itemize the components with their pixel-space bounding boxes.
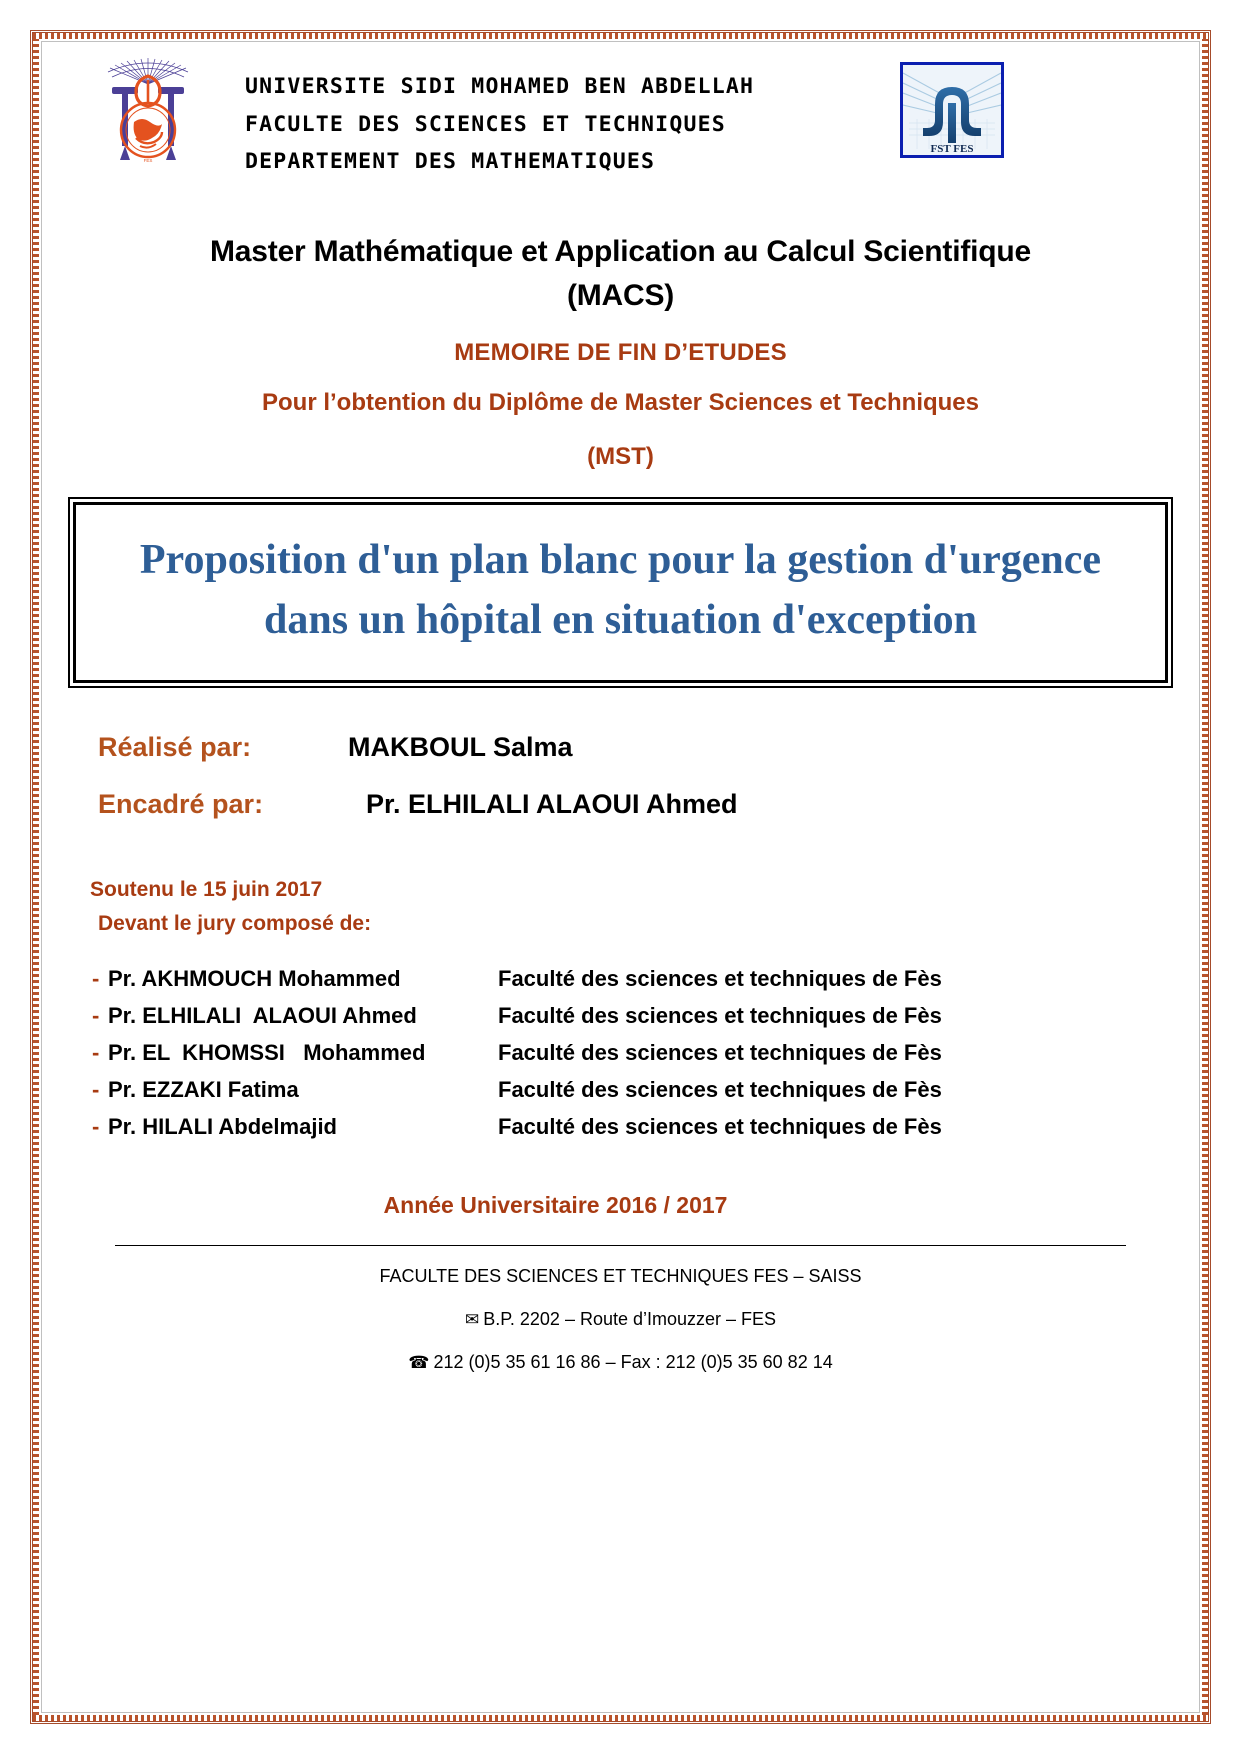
supervisor-label: Encadré par: [98,789,348,820]
thesis-title-box: Proposition d'un plan blanc pour la gest… [68,497,1173,688]
defense-block: Soutenu le 15 juin 2017 Devant le jury c… [60,878,1181,936]
jury-member-affiliation: Faculté des sciences et techniques de Fè… [498,1077,942,1103]
degree-purpose-line-1: Pour l’obtention du Diplôme de Master Sc… [60,385,1181,421]
jury-member-name: Pr. ELHILALI ALAOUI Ahmed [108,1003,498,1029]
cover-page: FES UNIVERSITE SIDI MOHAMED BEN ABDELLAH… [60,46,1181,1708]
institution-line-3: DEPARTEMENT DES MATHEMATIQUES [245,143,885,181]
jury-member-affiliation: Faculté des sciences et techniques de Fè… [498,1003,942,1029]
degree-block: Master Mathématique et Application au Ca… [60,230,1181,475]
thesis-title-box-inner: Proposition d'un plan blanc pour la gest… [73,502,1168,683]
academic-year: Année Universitaire 2016 / 2017 [60,1192,1181,1219]
jury-member-name: Pr. EZZAKI Fatima [108,1077,498,1103]
thesis-title: Proposition d'un plan blanc pour la gest… [110,531,1131,650]
fst-fes-logo-caption: FST FES [931,143,974,155]
footer-address-line: ✉B.P. 2202 – Route d’Imouzzer – FES [60,1309,1181,1330]
jury-bullet-dash: - [92,1077,108,1103]
footer-institution: FACULTE DES SCIENCES ET TECHNIQUES FES –… [60,1266,1181,1287]
jury-bullet-dash: - [92,966,108,992]
institution-line-1: UNIVERSITE SIDI MOHAMED BEN ABDELLAH [245,68,885,106]
jury-bullet-dash: - [92,1040,108,1066]
jury-bullet-dash: - [92,1114,108,1140]
jury-member-name: Pr. HILALI Abdelmajid [108,1114,498,1140]
footer-address: B.P. 2202 – Route d’Imouzzer – FES [483,1309,776,1329]
institution-heading: UNIVERSITE SIDI MOHAMED BEN ABDELLAH FAC… [245,68,885,181]
degree-purpose-line-2: (MST) [60,439,1181,475]
defense-date: Soutenu le 15 juin 2017 [90,878,1181,902]
svg-text:FES: FES [144,158,153,163]
page-header: FES UNIVERSITE SIDI MOHAMED BEN ABDELLAH… [60,46,1181,176]
envelope-icon: ✉ [465,1310,483,1329]
jury-member-name: Pr. AKHMOUCH Mohammed [108,966,498,992]
usmba-university-logo-icon: FES [96,54,200,172]
authors-block: Réalisé par: MAKBOUL Salma Encadré par: … [60,732,1181,820]
footer-phone: 212 (0)5 35 61 16 86 – Fax : 212 (0)5 35… [433,1352,832,1372]
jury-row: - Pr. HILALI Abdelmajid Faculté des scie… [92,1114,1181,1140]
page-footer: FACULTE DES SCIENCES ET TECHNIQUES FES –… [60,1266,1181,1373]
jury-list: - Pr. AKHMOUCH Mohammed Faculté des scie… [60,966,1181,1140]
jury-intro: Devant le jury composé de: [90,912,1181,936]
jury-bullet-dash: - [92,1003,108,1029]
jury-row: - Pr. EZZAKI Fatima Faculté des sciences… [92,1077,1181,1103]
footer-divider [115,1245,1126,1246]
author-name: MAKBOUL Salma [348,732,573,763]
document-type: MEMOIRE DE FIN D’ETUDES [60,339,1181,367]
jury-row: - Pr. AKHMOUCH Mohammed Faculté des scie… [92,966,1181,992]
program-name-line-1: Master Mathématique et Application au Ca… [60,230,1181,274]
supervisor-name: Pr. ELHILALI ALAOUI Ahmed [348,789,738,820]
jury-row: - Pr. ELHILALI ALAOUI Ahmed Faculté des … [92,1003,1181,1029]
supervisor-row: Encadré par: Pr. ELHILALI ALAOUI Ahmed [98,789,1181,820]
telephone-icon: ☎ [408,1353,433,1372]
jury-member-name: Pr. EL KHOMSSI Mohammed [108,1040,498,1066]
jury-member-affiliation: Faculté des sciences et techniques de Fè… [498,1040,942,1066]
author-label: Réalisé par: [98,732,348,763]
jury-member-affiliation: Faculté des sciences et techniques de Fè… [498,1114,942,1140]
author-row: Réalisé par: MAKBOUL Salma [98,732,1181,763]
institution-line-2: FACULTE DES SCIENCES ET TECHNIQUES [245,106,885,144]
jury-row: - Pr. EL KHOMSSI Mohammed Faculté des sc… [92,1040,1181,1066]
program-name-line-2: (MACS) [60,274,1181,318]
fst-fes-logo-icon: FST FES [900,62,1004,158]
footer-phone-line: ☎212 (0)5 35 61 16 86 – Fax : 212 (0)5 3… [60,1352,1181,1373]
jury-member-affiliation: Faculté des sciences et techniques de Fè… [498,966,942,992]
